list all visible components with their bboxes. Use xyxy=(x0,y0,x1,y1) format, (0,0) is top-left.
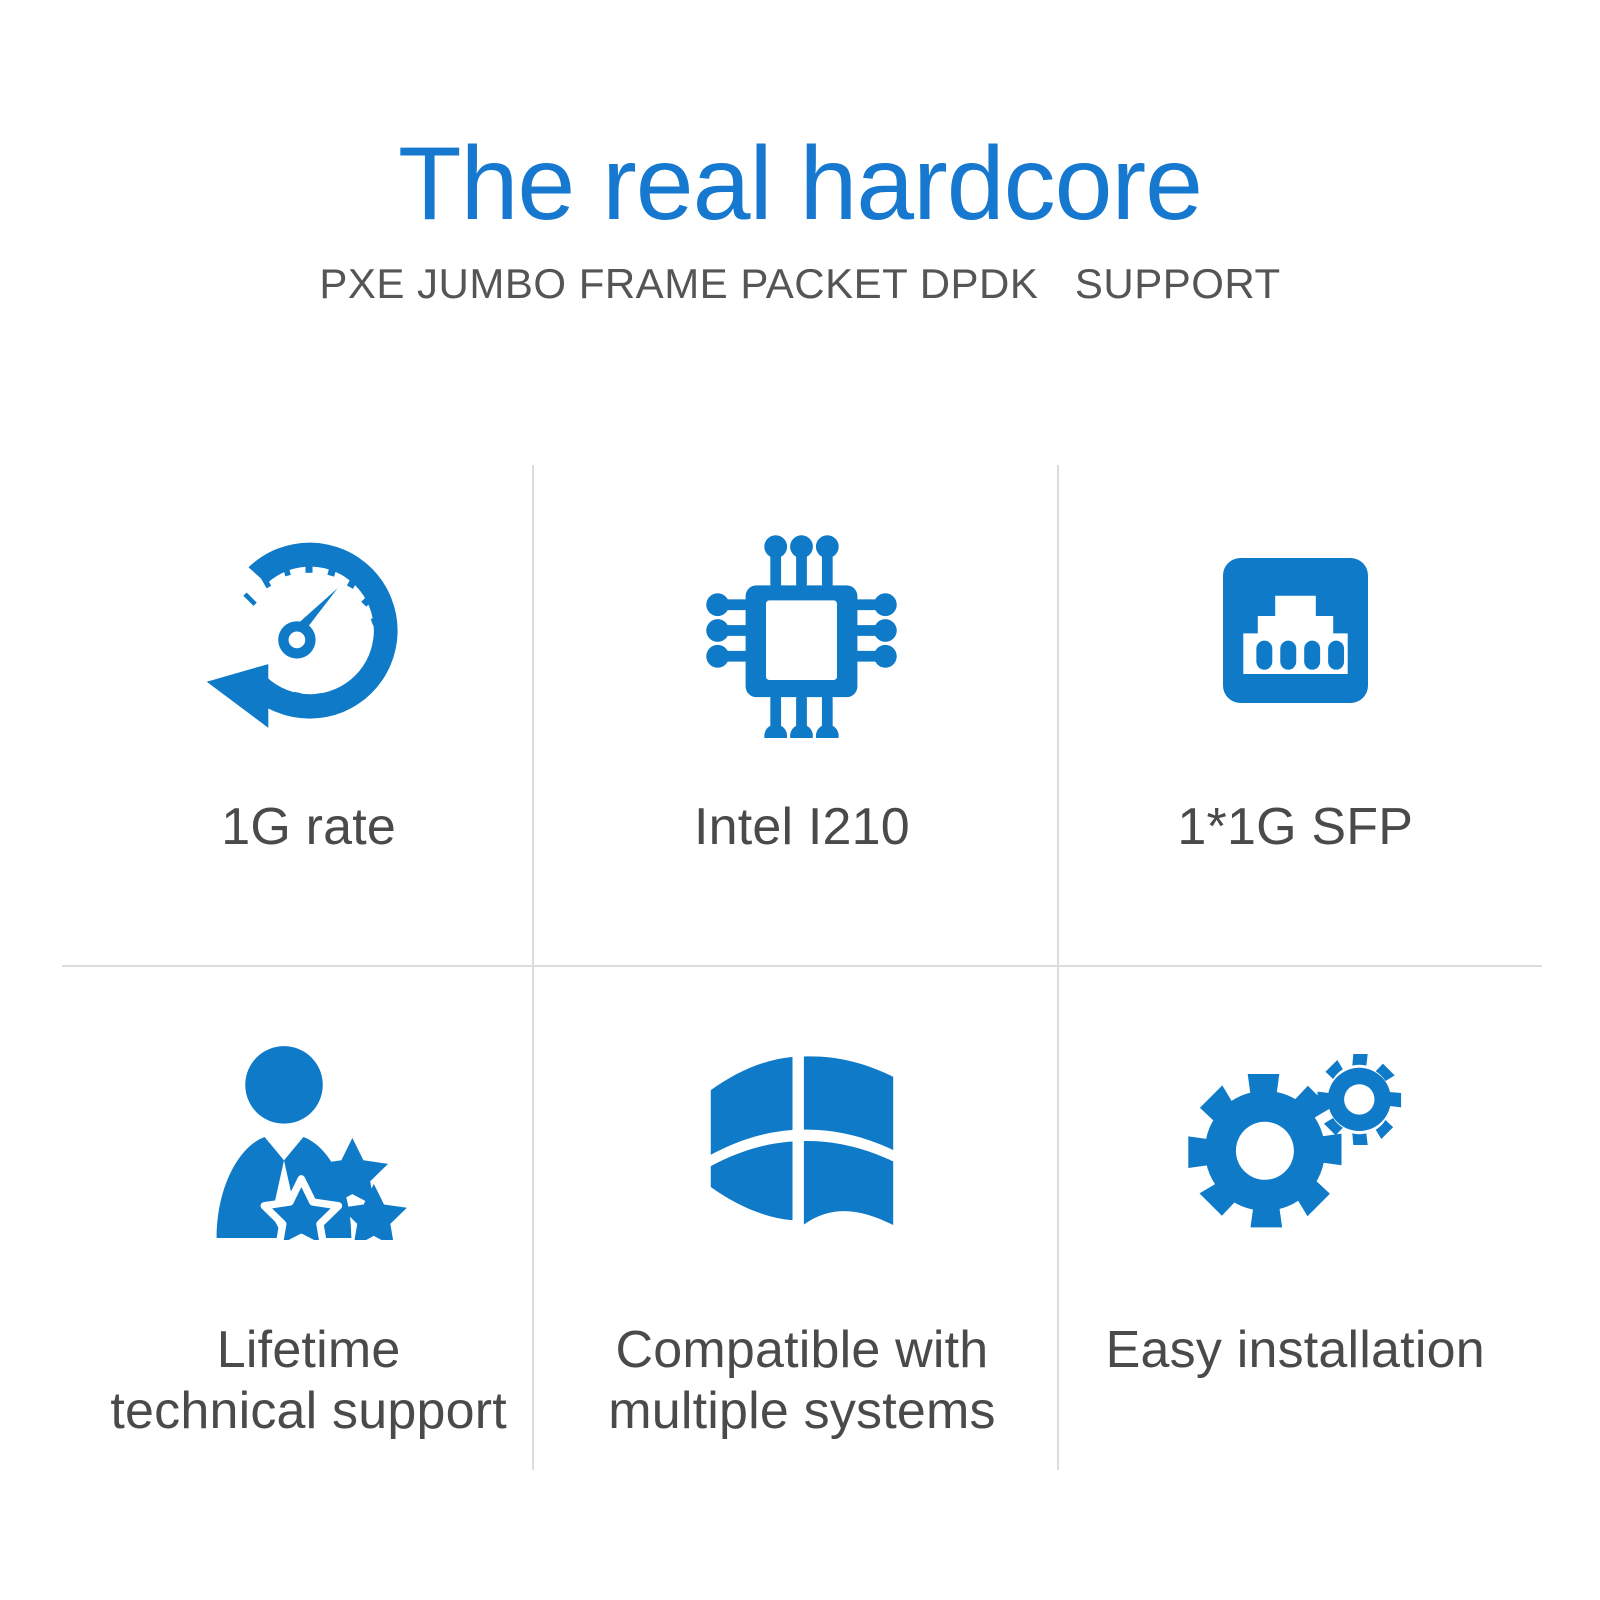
feature-label: Compatible with multiple systems xyxy=(608,1320,996,1443)
ethernet-port-icon xyxy=(1223,465,1368,775)
feature-row-1: 1G rate xyxy=(62,465,1542,965)
page-header: The real hardcore PXE JUMBO FRAME PACKET… xyxy=(0,0,1600,307)
gears-icon xyxy=(1183,970,1408,1280)
feature-cell-lifetime-support: Lifetime technical support xyxy=(62,970,555,1470)
grid-divider-horizontal xyxy=(62,965,1542,967)
speedometer-icon xyxy=(199,465,419,775)
feature-label: Easy installation xyxy=(1106,1320,1485,1381)
feature-cell-os-compatibility: Compatible with multiple systems xyxy=(555,970,1048,1470)
page-title: The real hardcore xyxy=(0,0,1600,239)
feature-label: Lifetime technical support xyxy=(110,1320,507,1443)
feature-label: 1G rate xyxy=(221,797,396,858)
windows-logo-icon xyxy=(707,970,897,1280)
feature-cell-easy-installation: Easy installation xyxy=(1049,970,1542,1470)
feature-row-2: Lifetime technical support xyxy=(62,970,1542,1470)
feature-cell-1g-rate: 1G rate xyxy=(62,465,555,965)
page-subtitle: PXE JUMBO FRAME PACKET DPDK SUPPORT xyxy=(0,239,1600,307)
feature-label: Intel I210 xyxy=(694,797,910,858)
feature-label: 1*1G SFP xyxy=(1177,797,1413,858)
feature-cell-intel-i210: Intel I210 xyxy=(555,465,1048,965)
cpu-chip-icon xyxy=(694,465,909,775)
person-stars-icon xyxy=(206,970,411,1280)
feature-grid: 1G rate xyxy=(62,465,1542,1470)
feature-cell-sfp-port: 1*1G SFP xyxy=(1049,465,1542,965)
